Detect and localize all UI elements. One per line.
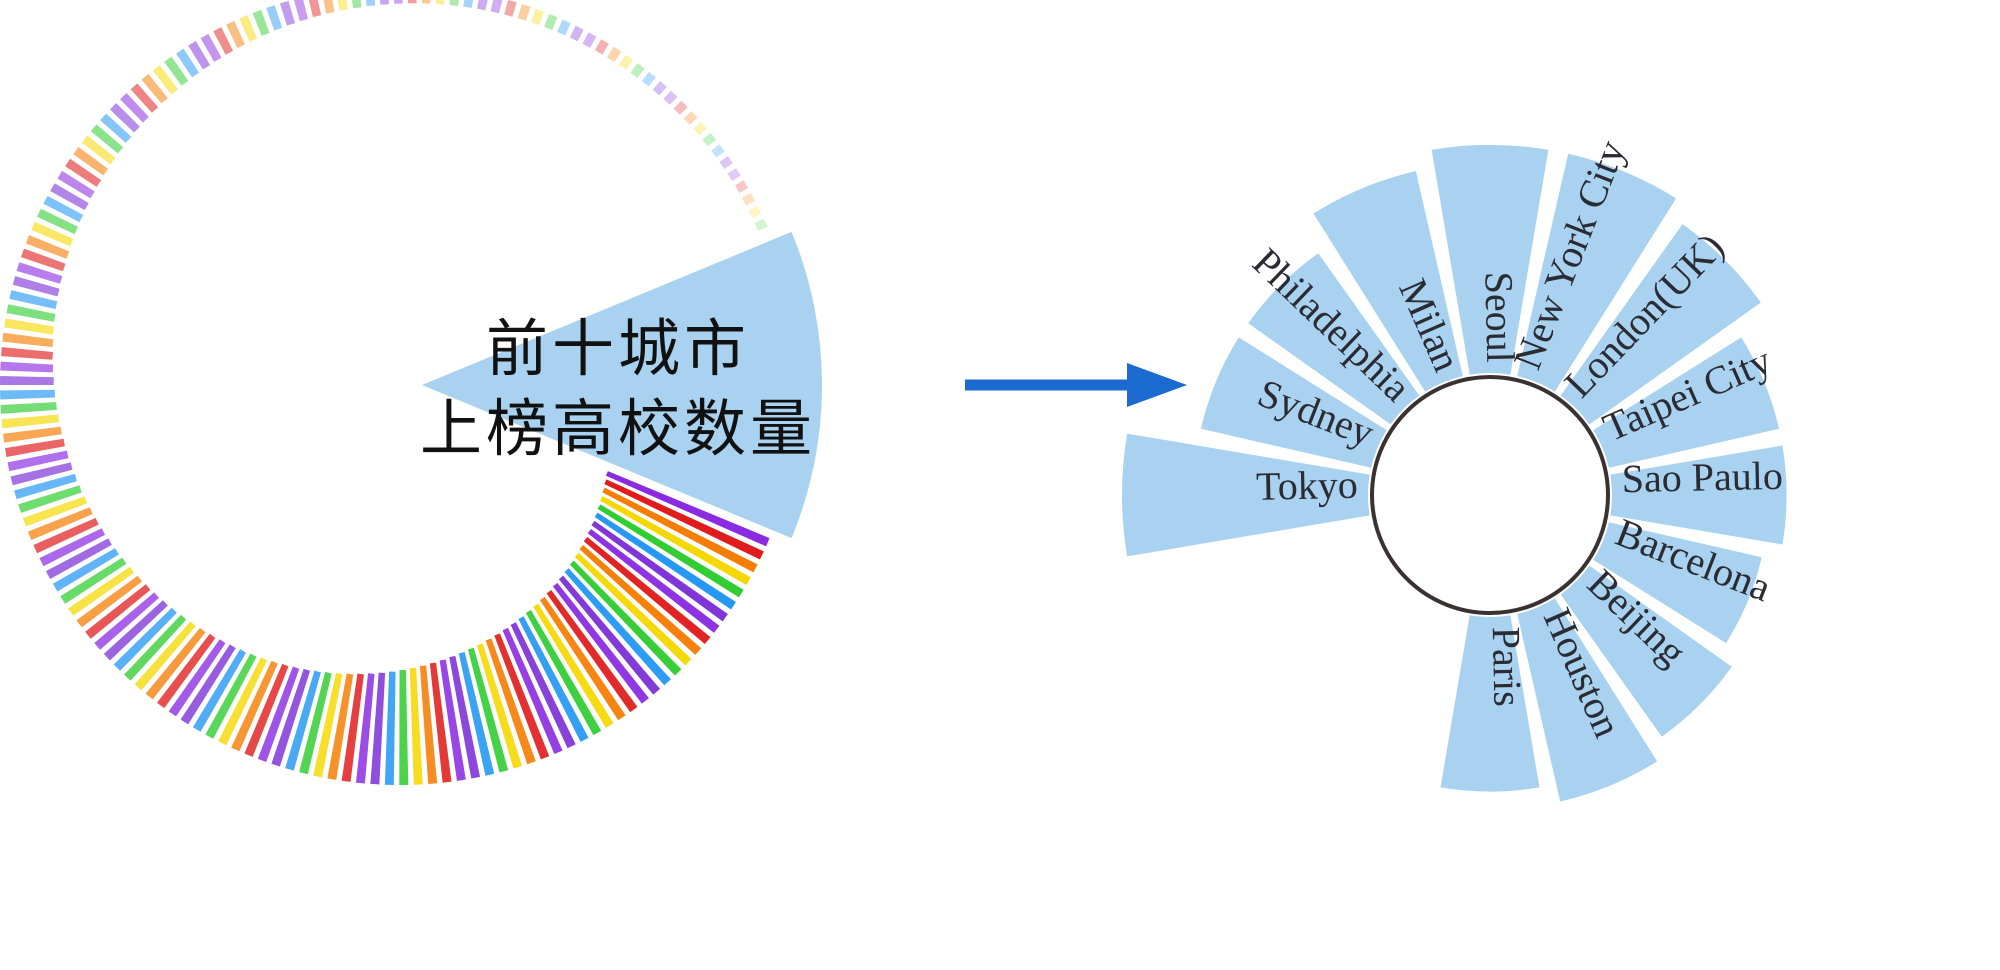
polar-bar-chart: TokyoSydneyPhiladelphiaMilanSeoulNew Yor… <box>970 0 2000 970</box>
pie-slice[interactable] <box>607 47 621 62</box>
pie-slice[interactable] <box>531 9 544 25</box>
pie-slice[interactable] <box>379 0 389 5</box>
pie-slice[interactable] <box>394 0 403 4</box>
pie-slice[interactable] <box>619 55 633 70</box>
pie-slice[interactable] <box>0 390 55 400</box>
polar-bar-label: Tokyo <box>1256 462 1359 509</box>
pie-slice[interactable] <box>399 670 408 785</box>
pie-slice[interactable] <box>408 0 417 4</box>
pie-slice[interactable] <box>336 0 348 11</box>
pie-slice[interactable] <box>727 168 740 181</box>
pie-slice[interactable] <box>755 219 768 231</box>
pie-slice[interactable] <box>0 362 53 373</box>
pie-slice[interactable] <box>735 180 748 193</box>
pie-slice[interactable] <box>557 20 571 36</box>
figure-canvas: 前十城市 上榜高校数量 TokyoSydneyPhiladelphiaMilan… <box>0 0 2000 970</box>
pie-slice[interactable] <box>595 39 609 54</box>
pie-slice[interactable] <box>663 91 677 105</box>
callout-line-1: 前十城市 <box>486 312 750 385</box>
pie-slice[interactable] <box>239 15 257 42</box>
pie-slice[interactable] <box>436 0 447 5</box>
pie-slice[interactable] <box>280 1 295 26</box>
pie-slice[interactable] <box>351 0 362 8</box>
pie-slice[interactable] <box>570 26 584 42</box>
pie-slice[interactable] <box>674 101 688 115</box>
pie-slice[interactable] <box>3 427 62 443</box>
polar-bar-label: Sao Paulo <box>1621 453 1783 501</box>
pie-slice[interactable] <box>1 347 53 360</box>
pie-slice[interactable] <box>2 333 53 347</box>
pie-slice[interactable] <box>449 0 460 6</box>
pie-slice[interactable] <box>4 318 54 334</box>
pie-slice[interactable] <box>742 193 755 206</box>
pie-slice[interactable] <box>253 10 270 36</box>
pie-slice[interactable] <box>653 81 667 95</box>
pie-slice[interactable] <box>422 0 432 4</box>
pie-slice[interactable] <box>0 402 56 414</box>
pie-slice[interactable] <box>491 0 503 13</box>
pie-slice[interactable] <box>582 32 596 48</box>
pie-slice[interactable] <box>308 0 321 17</box>
pie-slice[interactable] <box>518 4 531 21</box>
pie-slice[interactable] <box>266 5 282 30</box>
pie-slice[interactable] <box>693 122 707 136</box>
pie-slice[interactable] <box>544 14 557 30</box>
pie-slice[interactable] <box>410 668 423 785</box>
pie-slice[interactable] <box>720 156 733 169</box>
pie-slice[interactable] <box>630 63 644 78</box>
pie-slice[interactable] <box>711 144 725 157</box>
pie-slice[interactable] <box>702 133 716 146</box>
pie-slice[interactable] <box>294 0 308 21</box>
pie-slice[interactable] <box>642 72 656 87</box>
pie-slice[interactable] <box>365 0 375 6</box>
pie-slice[interactable] <box>385 672 396 785</box>
polar-bar-label: Paris <box>1484 626 1531 707</box>
pie-slice[interactable] <box>463 0 475 8</box>
pie-of-pie-chart: 前十城市 上榜高校数量 <box>0 0 980 970</box>
donut-inner-circle <box>1372 377 1608 613</box>
pie-slice[interactable] <box>0 376 54 385</box>
pie-slice[interactable] <box>504 0 517 17</box>
callout-line-2: 上榜高校数量 <box>420 392 816 465</box>
pie-slice[interactable] <box>1 414 59 428</box>
pie-slice[interactable] <box>749 206 762 218</box>
pie-slice[interactable] <box>684 111 698 125</box>
pie-slice[interactable] <box>477 0 489 10</box>
pie-slice[interactable] <box>322 0 335 14</box>
